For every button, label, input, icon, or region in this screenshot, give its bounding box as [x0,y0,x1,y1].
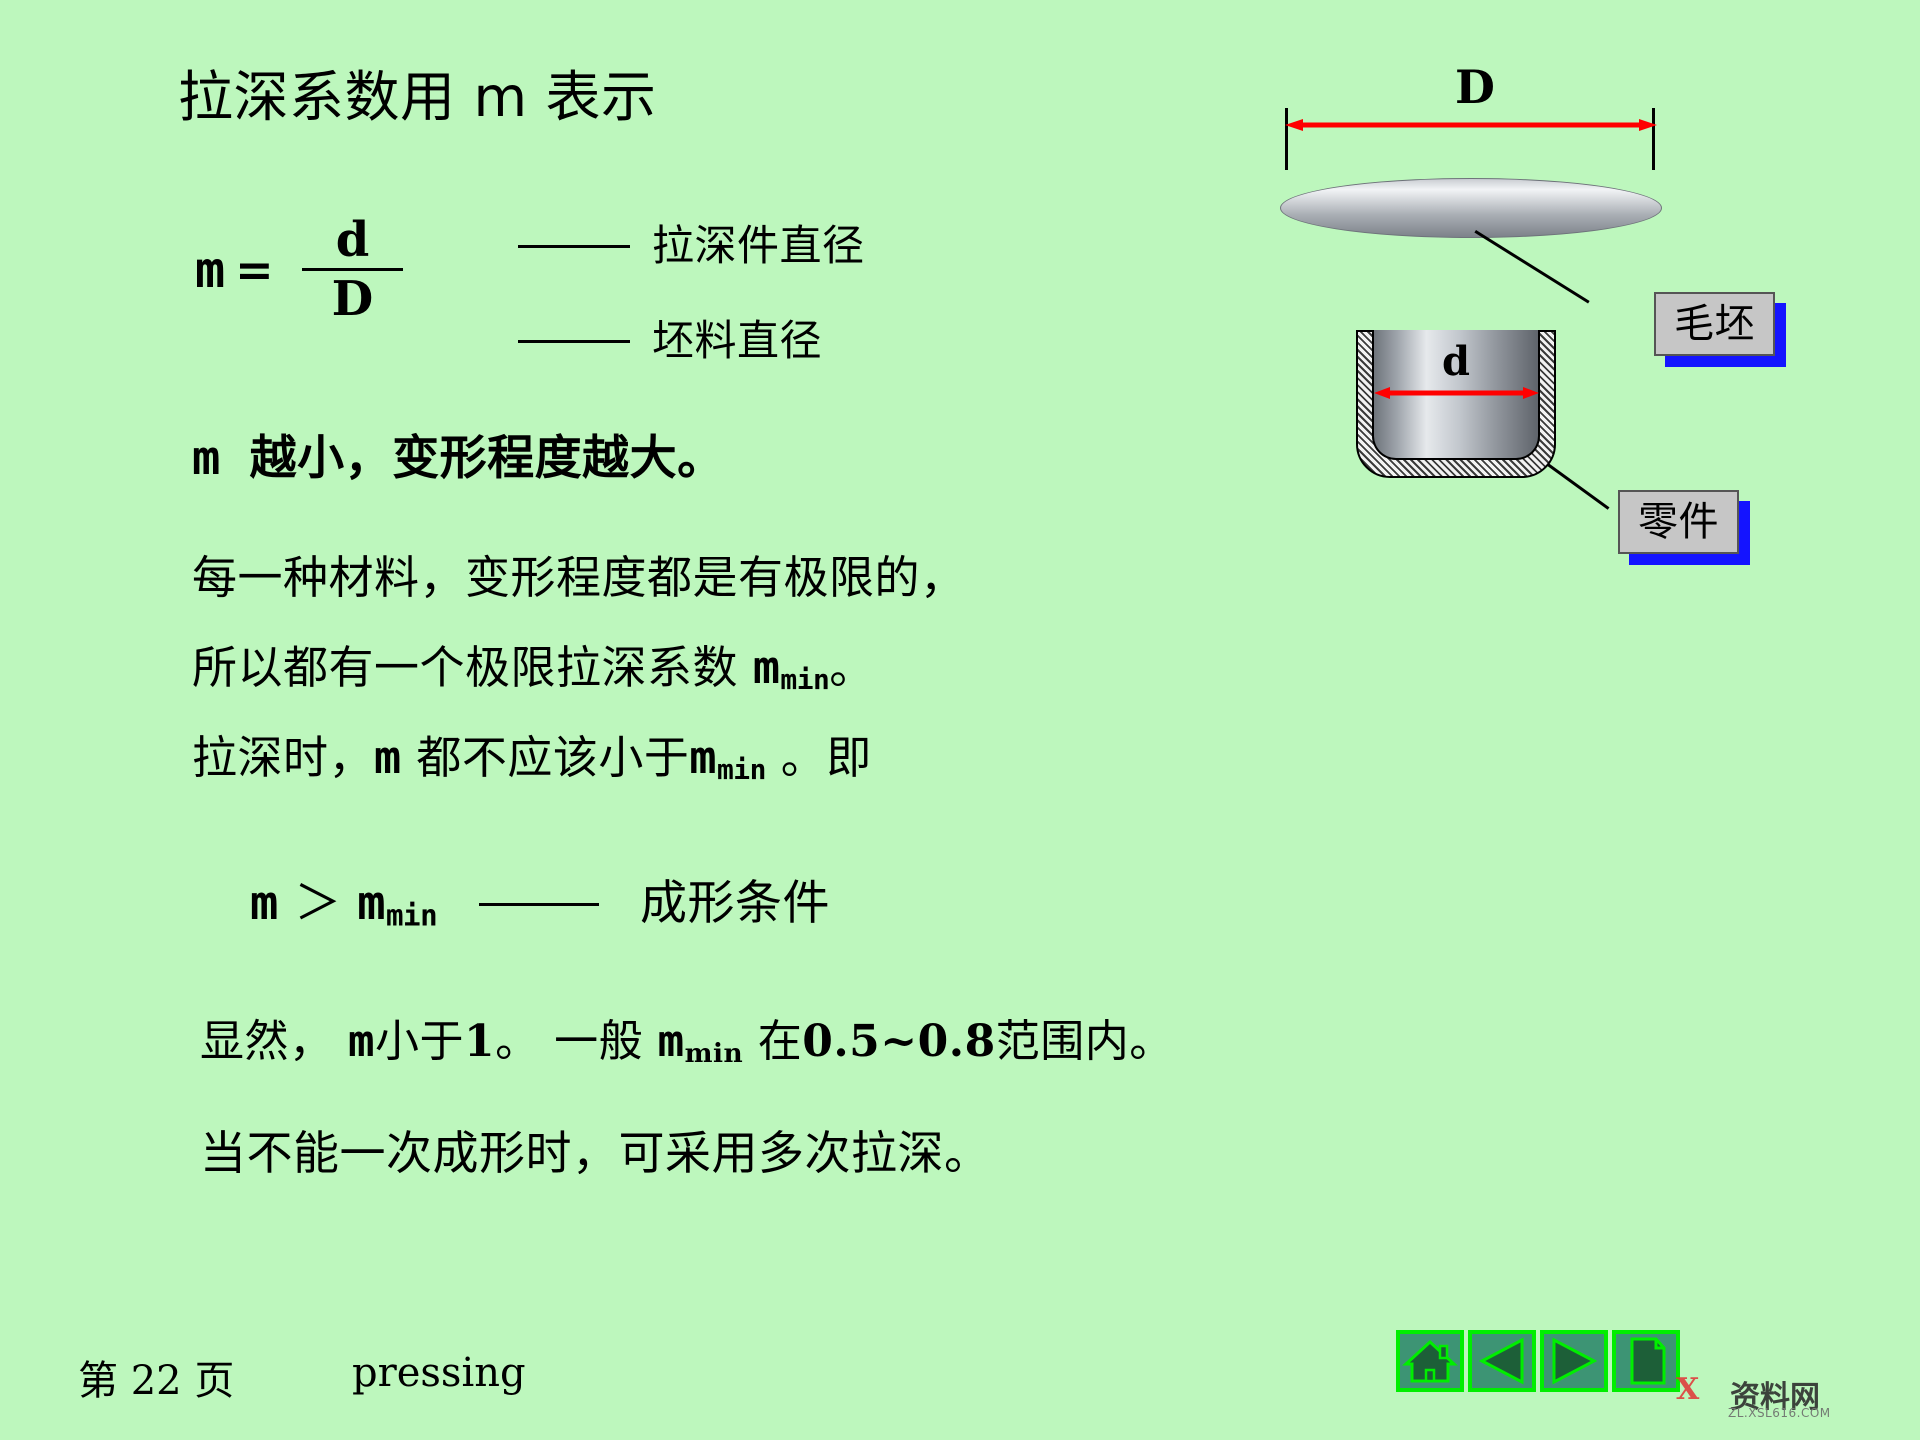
line3-m-symbol-2: m [689,731,717,784]
footer-subject-label: pressing [352,1350,526,1396]
next-button[interactable] [1540,1330,1608,1392]
lead-label-blank-diameter: 坯料直径 [652,320,822,362]
dimension-D-arrow [1285,118,1657,132]
inline-m-symbol: m 越小，变形程度越大。 [192,431,725,486]
watermark-logo: X [1676,1372,1699,1407]
obvious-min-subscript: min [685,1038,744,1069]
slide-canvas: 拉深系数用 m 表示 m = d D 拉深件直径 坯料直径 m 越小，变形程度越… [0,0,1920,1440]
obvious-m-symbol: m [348,1016,375,1067]
triangle-left-icon [1472,1334,1532,1388]
dimension-d-arrow [1374,386,1539,400]
line3-min-subscript: min [717,753,766,786]
formula-m-symbol: m [195,245,225,295]
blank-disc [1280,178,1662,238]
navigation-bar [1396,1330,1680,1392]
condition-greater-than: ＞ [294,876,342,931]
condition-min-subscript: min [386,898,437,932]
obvious-middle-2: 。 一般 [495,1016,657,1067]
obvious-prefix: 显然， [200,1016,348,1067]
footer-page-indicator: 第 22 页 [78,1348,234,1406]
callout-blank: 毛坯 [1654,292,1775,356]
paragraph-line-3: 拉深时，m 都不应该小于mmin 。即 [192,735,872,784]
line2-min-subscript: min [780,663,829,696]
watermark-url: ZL.XSL616.COM [1728,1406,1831,1420]
formula-equals-sign: = [235,243,274,297]
formula-fraction: d D [302,215,404,325]
line3-prefix: 拉深时， [192,731,374,784]
lead-line-top [518,245,630,248]
paragraph-line-1: 每一种材料，变形程度都是有极限的， [192,555,966,600]
document-icon [1616,1334,1676,1388]
obvious-range-value: 0.5~0.8 [802,1016,995,1067]
home-icon [1400,1334,1460,1388]
line3-m-symbol: m [374,731,402,784]
watermark: X 资料网 ZL.XSL616.COM [1672,1370,1902,1426]
formula-lead-row-top: 拉深件直径 [518,225,865,267]
footer-page-prefix: 第 [78,1358,118,1404]
obvious-middle: 小于 [375,1016,464,1067]
line2-m-symbol: m [753,641,781,694]
line2-suffix: 。 [829,641,875,694]
lead-line-bottom [518,340,630,343]
line3-middle: 都不应该小于 [402,731,690,784]
leader-line-blank [1474,230,1589,304]
deep-drawing-diagram: D 毛坯 d 零件 [1240,60,1890,680]
forming-condition-expression: m ＞ mmin 成形条件 [250,880,830,931]
page-title: 拉深系数用 m 表示 [178,70,657,125]
page-button[interactable] [1612,1330,1680,1392]
paragraph-line-2: 所以都有一个极限拉深系数 mmin。 [192,645,875,694]
callout-part: 零件 [1618,490,1739,554]
formula-lead-row-bottom: 坯料直径 [518,320,822,362]
condition-m-symbol-2: m [357,876,386,931]
condition-label: 成形条件 [640,876,830,931]
triangle-right-icon [1544,1334,1604,1388]
line2-prefix: 所以都有一个极限拉深系数 [192,641,753,694]
callout-part-label: 零件 [1618,490,1739,554]
note-smaller-m: m 越小，变形程度越大。 [192,435,725,482]
footer-page-suffix: 页 [194,1358,234,1404]
drawn-cup-part: d [1356,330,1556,490]
previous-button[interactable] [1468,1330,1536,1392]
line3-suffix: 。即 [766,731,872,784]
dimension-d-label: d [1442,338,1470,385]
dimension-D-label: D [1455,60,1495,114]
condition-m-symbol: m [250,876,279,931]
callout-blank-label: 毛坯 [1654,292,1775,356]
obvious-range-prefix: 在 [743,1016,802,1067]
obvious-range-suffix: 范围内。 [996,1016,1174,1067]
obvious-mmin-symbol: m [658,1016,685,1067]
home-button[interactable] [1396,1330,1464,1392]
drawing-coefficient-formula: m = d D [195,215,403,325]
paragraph-multi-draw: 当不能一次成形时，可采用多次拉深。 [200,1130,991,1176]
obvious-value-one: 1 [464,1016,495,1067]
paragraph-obvious: 显然， m小于1。 一般 mmin 在0.5~0.8范围内。 [200,1020,1174,1067]
lead-label-drawn-part-diameter: 拉深件直径 [652,225,865,267]
footer-page-number: 22 [131,1358,182,1404]
formula-numerator: d [306,215,400,265]
condition-dash-line [479,903,599,906]
formula-denominator: D [302,274,404,324]
